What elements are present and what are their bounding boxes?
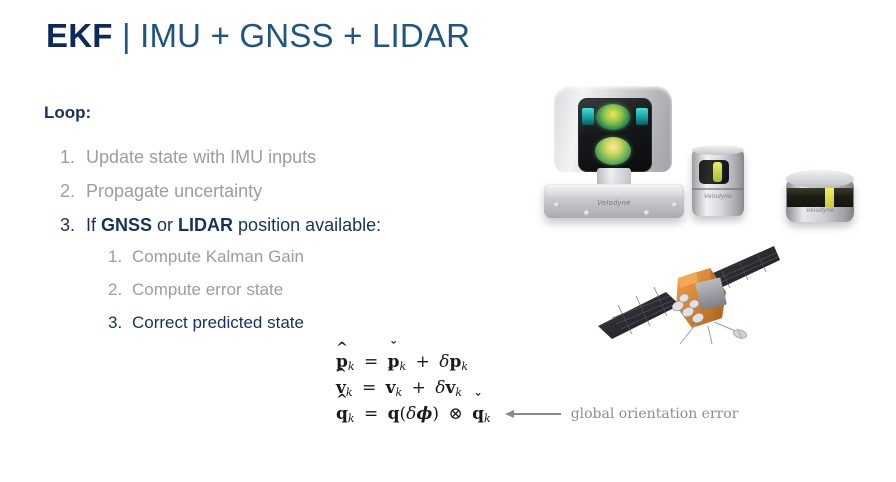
lidar-lens-right: [636, 108, 648, 125]
delta-p: p: [450, 352, 462, 372]
title-strong: EKF: [46, 17, 113, 54]
solar-panel-left: [598, 287, 680, 339]
equals-sign: =: [360, 352, 382, 372]
lidar-top-cap: [786, 170, 854, 188]
antenna-dish: [732, 328, 748, 340]
velodyne-vlp16-puck-lidar: Velodyne: [782, 164, 866, 236]
phi-symbol: ϕ: [416, 404, 432, 424]
brand-label: Velodyne: [786, 208, 854, 214]
lidar-head: [554, 86, 672, 172]
sensor-gnss: GNSS: [101, 215, 152, 235]
plus-sign: +: [412, 352, 434, 372]
annotation-label: global orientation error: [571, 406, 739, 422]
list-item-prefix: If: [86, 215, 101, 235]
lidar-base-top: [546, 185, 682, 196]
lidar-lens-lower: [595, 137, 631, 165]
equation-position: ^pk = ˇpk + δpk: [336, 349, 738, 375]
list-item: 2. Propagate uncertainty: [60, 174, 490, 208]
equation-orientation: ^qk = q(δϕ) ⊗ ˇqk global orientation err…: [336, 401, 738, 427]
list-item-number: 1.: [60, 140, 86, 174]
brand-label: Velodyne: [692, 194, 744, 200]
list-item-label: Update state with IMU inputs: [86, 140, 316, 174]
lidar-window-band: [787, 188, 853, 207]
sub-list-item-number: 1.: [108, 240, 132, 273]
title-rest: | IMU + GNSS + LIDAR: [113, 17, 471, 54]
brand-label: Velodyne: [540, 200, 688, 207]
plus-sign: +: [408, 378, 430, 398]
list-item-number: 2.: [60, 174, 86, 208]
paren-close: ): [432, 404, 439, 424]
loop-heading: Loop:: [44, 103, 91, 123]
otimes-sign: ⊗: [444, 404, 466, 424]
lidar-seam: [692, 188, 744, 190]
sub-list-item-label: Compute Kalman Gain: [132, 240, 304, 273]
sub-list-item-label: Compute error state: [132, 273, 283, 306]
sub-list-item: 1. Compute Kalman Gain: [108, 240, 488, 273]
sub-list-item-number: 3.: [108, 306, 132, 339]
delta-v: v: [446, 378, 456, 398]
annotation-group: global orientation error: [505, 406, 739, 422]
sensor-lidar: LIDAR: [178, 215, 233, 235]
antenna-booms: [680, 322, 738, 344]
list-item: 1. Update state with IMU inputs: [60, 140, 490, 174]
screw-icon: [584, 210, 590, 216]
correction-steps-list: 1. Compute Kalman Gain 2. Compute error …: [108, 240, 488, 339]
list-item-label: Propagate uncertainty: [86, 174, 262, 208]
lidar-window: [699, 160, 729, 184]
left-arrow-icon: [505, 409, 561, 419]
q-check: ˇq: [472, 404, 484, 424]
list-item-conjunction: or: [152, 215, 178, 235]
list-item-suffix: position available:: [233, 215, 381, 235]
lidar-lens-upper: [596, 104, 630, 130]
gnss-satellite: [592, 244, 782, 350]
delta-symbol: δ: [435, 378, 445, 398]
velodyne-hdl64e-lidar: Velodyne: [540, 84, 690, 234]
lidar-sensor-face: [578, 98, 652, 172]
delta-symbol: δ: [439, 352, 449, 372]
list-item-label: If GNSS or LIDAR position available:: [86, 208, 381, 242]
q-function: q: [388, 404, 400, 424]
sub-list-item-number: 2.: [108, 273, 132, 306]
page-title: EKF | IMU + GNSS + LIDAR: [46, 14, 470, 58]
equals-sign: =: [360, 404, 382, 424]
sub-list-item-label: Correct predicted state: [132, 306, 304, 339]
list-item-active: 3. If GNSS or LIDAR position available:: [60, 208, 490, 242]
equation-block: ^pk = ˇpk + δpk ^vk = ˇvk + δvk ^qk = q(…: [336, 349, 738, 427]
equals-sign: =: [358, 378, 380, 398]
satellite-illustration: [592, 244, 782, 350]
lidar-top-cap: [692, 145, 744, 155]
q-hat: ^q: [336, 404, 348, 424]
screw-icon: [644, 210, 650, 216]
sub-list-item: 2. Compute error state: [108, 273, 488, 306]
v-check: ˇv: [386, 378, 396, 398]
lidar-lens-left: [582, 108, 594, 125]
loop-steps-list: 1. Update state with IMU inputs 2. Propa…: [60, 140, 490, 242]
sub-list-item-active: 3. Correct predicted state: [108, 306, 488, 339]
equation-velocity: ^vk = ˇvk + δvk: [336, 375, 738, 401]
delta-symbol: δ: [406, 404, 416, 424]
list-item-number: 3.: [60, 208, 86, 242]
velodyne-hdl32e-lidar: Velodyne: [686, 142, 756, 232]
